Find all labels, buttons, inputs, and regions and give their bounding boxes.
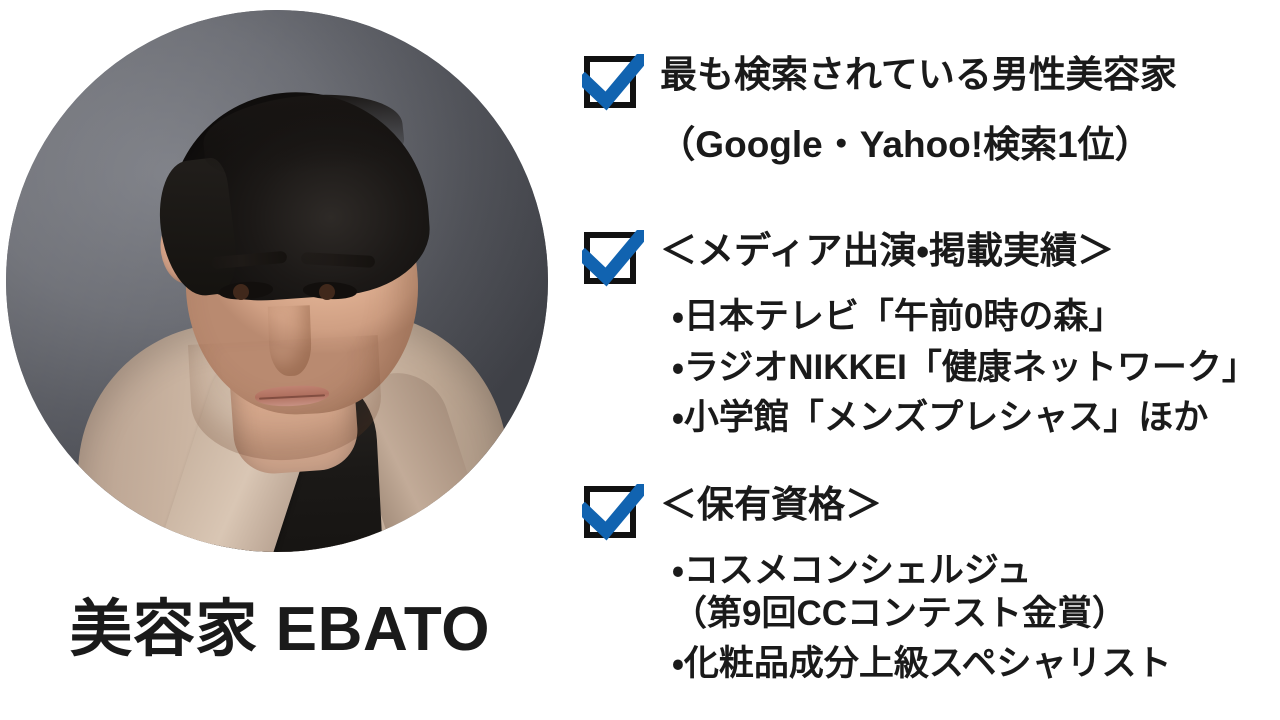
list-item: ・小学館「メンズプレシャス」ほか — [672, 397, 1280, 440]
checklist-item-1-subline: （Google・Yahoo!検索1位） — [560, 122, 1250, 169]
checklist-item-3-head: ＜保有資格＞ — [560, 482, 1280, 542]
checklist-item-3-bullets: ・コスメコンシェルジュ （第9回CCコンテスト金賞） ・化粧品成分上級スペシャリ… — [560, 550, 1280, 686]
list-item: （第9回CCコンテスト金賞） — [672, 593, 1280, 636]
profile-name-caption: 美容家 EBATO — [0, 578, 560, 668]
checklist-item-3-heading: ＜保有資格＞ — [660, 482, 1280, 529]
checklist-item-2-heading: ＜メディア出演・掲載実績＞ — [660, 228, 1280, 275]
checklist-item-2-bullets: ・日本テレビ「午前0時の森」 ・ラジオNIKKEI「健康ネットワーク」 ・小学館… — [560, 296, 1280, 440]
pupil-left — [233, 284, 249, 300]
checkbox-checked-icon — [582, 230, 644, 290]
portrait-block: 美容家 EBATO — [0, 0, 560, 720]
pupil-right — [319, 284, 335, 300]
portrait-photo — [6, 10, 548, 552]
list-item: ・日本テレビ「午前0時の森」 — [672, 296, 1280, 339]
checkbox-checked-icon — [582, 484, 644, 544]
checklist-block: 最も検索されている男性美容家 （Google・Yahoo!検索1位） ＜メディア… — [560, 0, 1280, 720]
checkbox-checked-icon — [582, 54, 644, 114]
nose-shape — [268, 305, 312, 376]
profile-card: 美容家 EBATO 最も検索されている男性美容家 （Google・Yahoo!検… — [0, 0, 1280, 720]
checklist-item-3: ＜保有資格＞ ・コスメコンシェルジュ （第9回CCコンテスト金賞） ・化粧品成分… — [560, 482, 1280, 686]
checklist-item-2-head: ＜メディア出演・掲載実績＞ — [560, 228, 1280, 288]
list-item: ・化粧品成分上級スペシャリスト — [672, 643, 1280, 686]
checklist-item-1-heading: 最も検索されている男性美容家 — [660, 52, 1280, 99]
list-item: ・ラジオNIKKEI「健康ネットワーク」 — [672, 347, 1280, 390]
checklist-item-1-head: 最も検索されている男性美容家 — [560, 52, 1280, 112]
checklist-item-1: 最も検索されている男性美容家 （Google・Yahoo!検索1位） — [560, 52, 1280, 169]
portrait-figure — [6, 10, 548, 552]
list-item: ・コスメコンシェルジュ — [672, 550, 1280, 593]
checklist-item-2: ＜メディア出演・掲載実績＞ ・日本テレビ「午前0時の森」 ・ラジオNIKKEI「… — [560, 228, 1280, 440]
